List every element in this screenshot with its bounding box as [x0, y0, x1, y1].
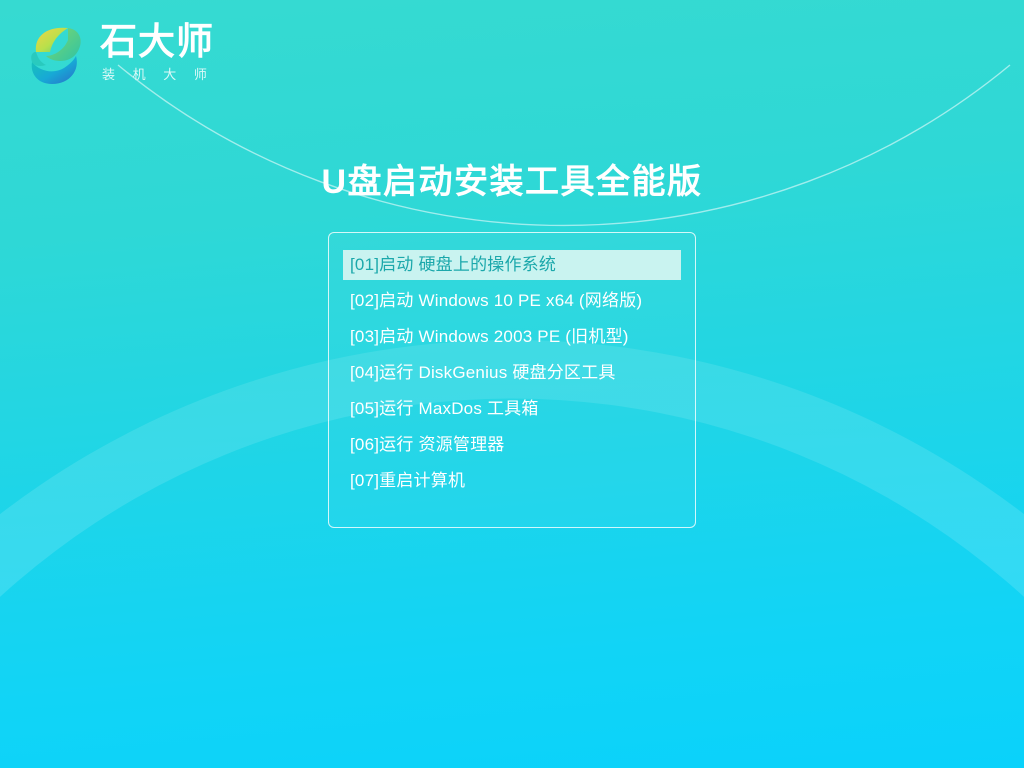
brand-text: 石大师 装 机 大 师 — [100, 20, 240, 84]
menu-item-06[interactable]: [06]运行 资源管理器 — [329, 430, 695, 460]
boot-menu-list: [01]启动 硬盘上的操作系统 [02]启动 Windows 10 PE x64… — [329, 250, 695, 502]
menu-item-05[interactable]: [05]运行 MaxDos 工具箱 — [329, 394, 695, 424]
menu-item-02[interactable]: [02]启动 Windows 10 PE x64 (网络版) — [329, 286, 695, 316]
menu-item-04[interactable]: [04]运行 DiskGenius 硬盘分区工具 — [329, 358, 695, 388]
brand-tagline: 装 机 大 师 — [102, 66, 240, 84]
menu-item-01[interactable]: [01]启动 硬盘上的操作系统 — [343, 250, 681, 280]
brand-logo: 石大师 装 机 大 师 — [24, 18, 244, 92]
boot-menu-screen: 石大师 装 机 大 师 U盘启动安装工具全能版 [01]启动 硬盘上的操作系统 … — [0, 0, 1024, 768]
menu-item-03[interactable]: [03]启动 Windows 2003 PE (旧机型) — [329, 322, 695, 352]
leaf-swirl-logo-icon — [24, 22, 86, 88]
brand-name: 石大师 — [100, 20, 240, 64]
boot-menu-panel: [01]启动 硬盘上的操作系统 [02]启动 Windows 10 PE x64… — [328, 232, 696, 528]
page-title: U盘启动安装工具全能版 — [0, 160, 1024, 204]
menu-item-07[interactable]: [07]重启计算机 — [329, 466, 695, 496]
